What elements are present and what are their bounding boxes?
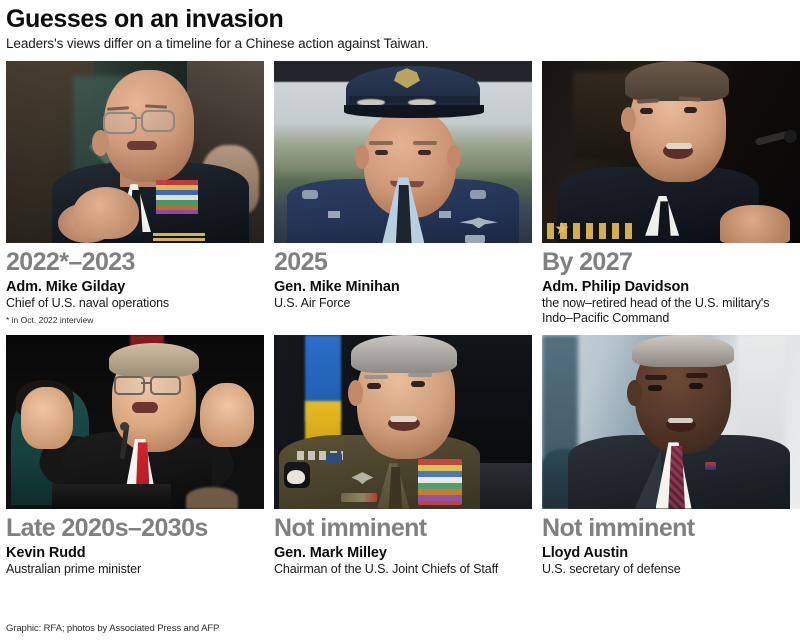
person-role: the now–retired head of the U.S. militar… xyxy=(542,296,800,325)
card-row-top: 2022*–2023 Adm. Mike Gilday Chief of U.S… xyxy=(6,61,794,326)
card-kevin-rudd: Late 2020s–2030s Kevin Rudd Australian p… xyxy=(6,335,264,577)
caption: 2022*–2023 Adm. Mike Gilday Chief of U.S… xyxy=(6,243,264,326)
card-row-bottom: Late 2020s–2030s Kevin Rudd Australian p… xyxy=(6,335,794,577)
person-name: Gen. Mike Minihan xyxy=(274,279,532,296)
caption: Late 2020s–2030s Kevin Rudd Australian p… xyxy=(6,509,264,577)
person-name: Gen. Mark Milley xyxy=(274,545,532,562)
verdict-label: Not imminent xyxy=(542,514,800,543)
card-adm-philip-davidson: By 2027 Adm. Philip Davidson the now–ret… xyxy=(542,61,800,326)
person-name: Adm. Philip Davidson xyxy=(542,279,800,296)
verdict-label: 2022*–2023 xyxy=(6,248,264,277)
verdict-label: Late 2020s–2030s xyxy=(6,514,264,543)
person-name: Kevin Rudd xyxy=(6,545,264,562)
footnote: * in Oct. 2022 interview xyxy=(6,314,264,326)
verdict-label: 2025 xyxy=(274,248,532,277)
card-lloyd-austin: Not imminent Lloyd Austin U.S. secretary… xyxy=(542,335,800,577)
person-role: U.S. Air Force xyxy=(274,296,532,311)
card-gen-mark-milley: Not imminent Gen. Mark Milley Chairman o… xyxy=(274,335,532,577)
source-credit: Graphic: RFA; photos by Associated Press… xyxy=(6,623,219,634)
page-subtitle: Leaders's views differ on a timeline for… xyxy=(6,36,794,52)
card-adm-mike-gilday: 2022*–2023 Adm. Mike Gilday Chief of U.S… xyxy=(6,61,264,326)
kevin-rudd-photo xyxy=(6,335,264,509)
header: Guesses on an invasion Leaders's views d… xyxy=(6,0,794,52)
gen-mark-milley-photo xyxy=(274,335,532,509)
lloyd-austin-photo xyxy=(542,335,800,509)
verdict-label: By 2027 xyxy=(542,248,800,277)
person-name: Adm. Mike Gilday xyxy=(6,279,264,296)
gen-mike-minihan-photo xyxy=(274,61,532,243)
person-name: Lloyd Austin xyxy=(542,545,800,562)
adm-philip-davidson-photo xyxy=(542,61,800,243)
person-role: U.S. secretary of defense xyxy=(542,562,800,577)
card-gen-mike-minihan: 2025 Gen. Mike Minihan U.S. Air Force xyxy=(274,61,532,326)
person-role: Chairman of the U.S. Joint Chiefs of Sta… xyxy=(274,562,532,577)
verdict-label: Not imminent xyxy=(274,514,532,543)
page-title: Guesses on an invasion xyxy=(6,4,794,34)
caption: By 2027 Adm. Philip Davidson the now–ret… xyxy=(542,243,800,325)
infographic-root: Guesses on an invasion Leaders's views d… xyxy=(0,0,800,643)
caption: 2025 Gen. Mike Minihan U.S. Air Force xyxy=(274,243,532,311)
adm-mike-gilday-photo xyxy=(6,61,264,243)
caption: Not imminent Lloyd Austin U.S. secretary… xyxy=(542,509,800,577)
caption: Not imminent Gen. Mark Milley Chairman o… xyxy=(274,509,532,577)
person-role: Chief of U.S. naval operations xyxy=(6,296,264,311)
person-role: Australian prime minister xyxy=(6,562,264,577)
